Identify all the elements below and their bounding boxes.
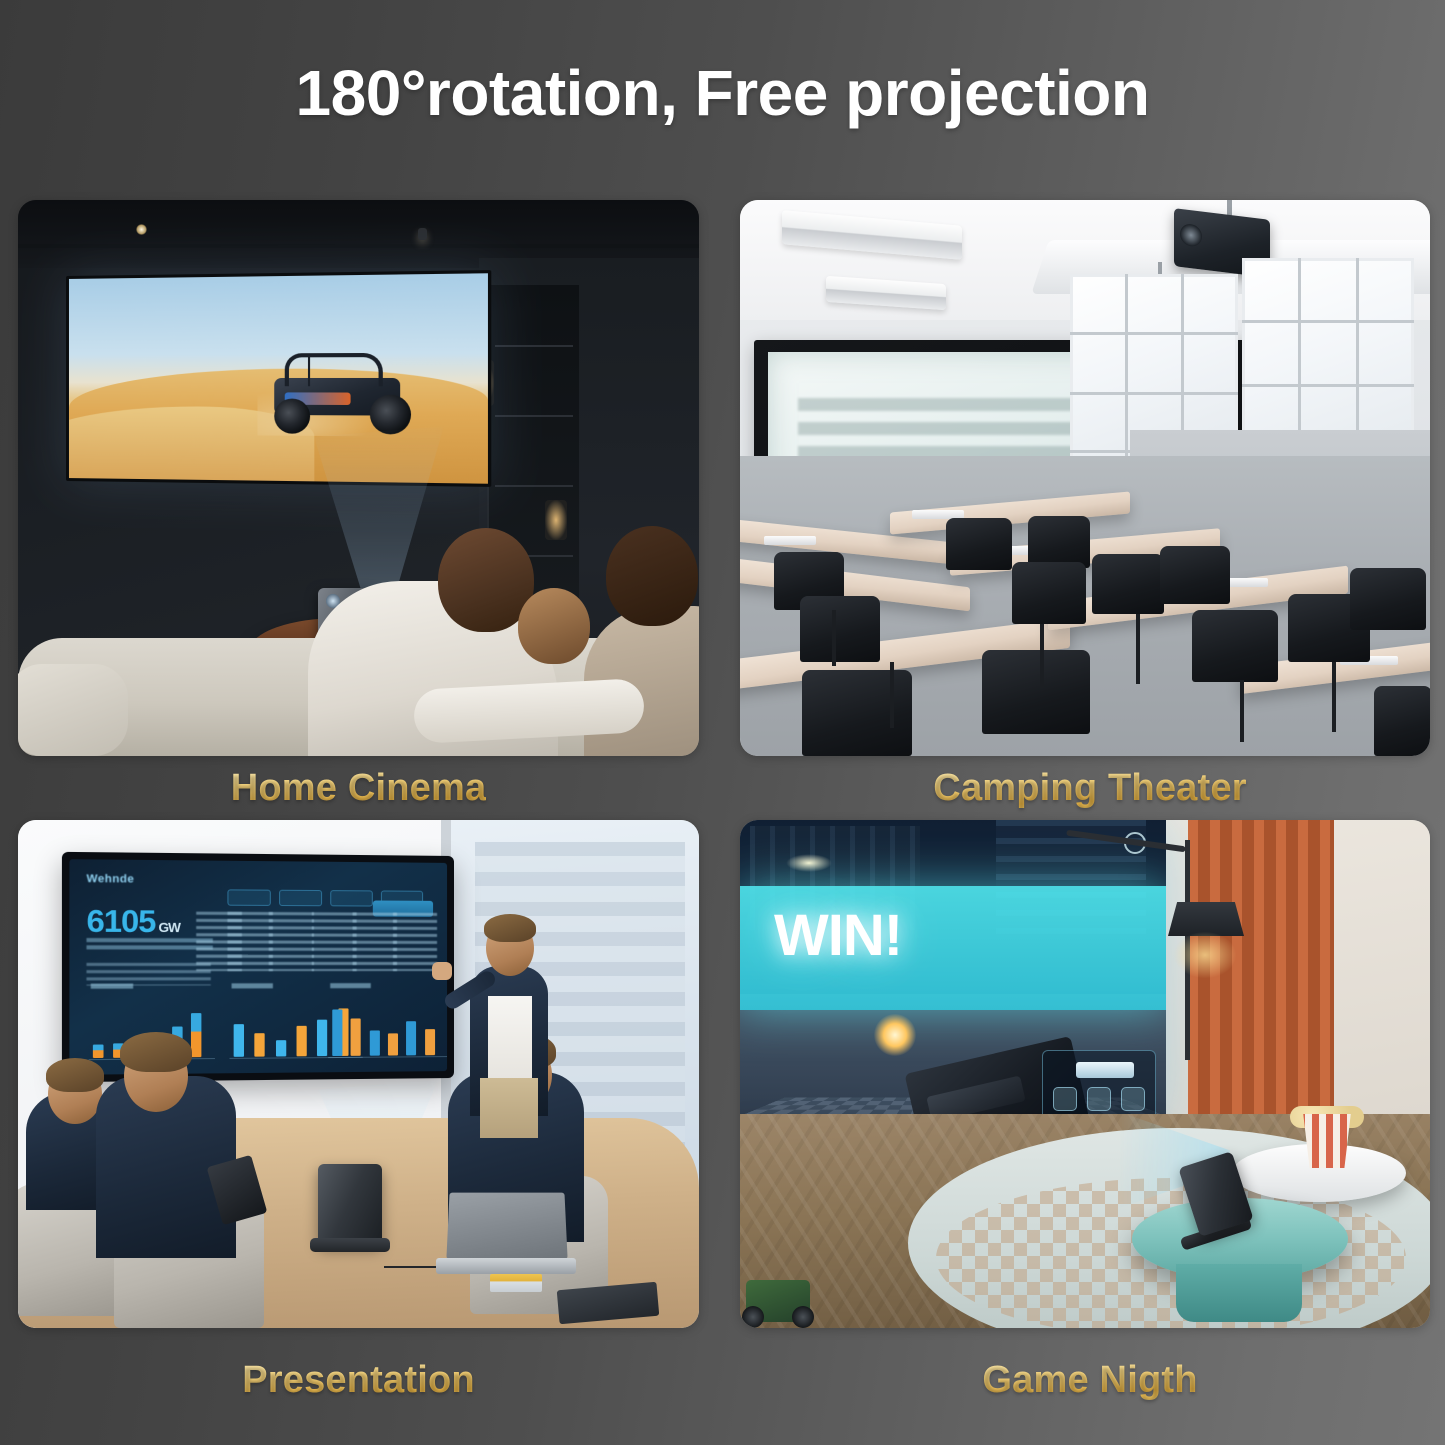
chart-bar [191,1013,201,1057]
caption-label: Camping Theater [923,767,1246,810]
chair [1028,516,1090,568]
chart-bar [276,1040,286,1057]
chart-bar [425,1029,435,1056]
win-text: WIN! [774,902,902,969]
hud-weapon-icon [1076,1062,1134,1078]
caption-home-cinema: Home Cinema [18,756,699,820]
promo-page: 180°rotation, Free projection [0,0,1445,1445]
panel-home-cinema[interactable] [18,200,699,756]
panel-game-night[interactable]: WIN! [740,820,1430,1328]
panel-grid: Home Cinema [18,200,1430,1432]
lamp-shade [1168,902,1244,936]
chair [1374,686,1430,756]
lamp-glow [1174,932,1236,978]
chart-bar [297,1026,307,1056]
dashboard-metric: 6105GW [86,905,179,937]
chair [1092,554,1164,614]
presenter-trousers [480,1078,538,1138]
desk-pad [764,536,816,545]
ceiling-light-icon [136,224,147,235]
ceiling-spot-icon [418,228,427,240]
chair [1350,568,1426,630]
dashboard-tab[interactable] [279,890,322,907]
head-child [518,588,590,664]
caption-label: Home Cinema [231,767,487,810]
toy-car-wheel [742,1306,764,1328]
hud-icon-3 [1121,1087,1145,1111]
dashboard-tab[interactable] [227,889,270,906]
chair [1012,562,1086,624]
caption-label: Presentation [242,1359,475,1402]
head-man [606,526,698,626]
metric-unit: GW [158,920,179,935]
sofa-arm [18,664,128,756]
dashboard-paragraph [86,963,210,986]
toy-car-wheel [792,1306,814,1328]
chair [982,650,1090,734]
projector-device [318,1164,382,1244]
metric-subtitle [86,938,212,952]
projected-game-screen: WIN! [740,820,1166,1134]
shelf-lamp-glow-2 [545,500,567,540]
laptop-base [436,1258,576,1274]
chair [1192,610,1278,682]
chair [800,596,880,662]
page-title: 180°rotation, Free projection [296,56,1150,130]
projector-beam [314,426,444,606]
chart-bar [351,1018,361,1056]
game-streetlight [786,854,832,872]
metric-value: 6105 [86,903,155,939]
ceiling-track [18,244,699,248]
laptop-screen [446,1193,567,1260]
chair [946,518,1012,570]
chart-bar [332,1009,342,1056]
dashboard-tab[interactable] [330,890,373,906]
chair [1160,546,1230,604]
chart-bar [369,1030,379,1056]
table-base [1176,1264,1302,1322]
chart-bar [255,1033,265,1057]
panel-camping-theater[interactable] [740,200,1430,756]
caption-presentation: Presentation [18,1328,699,1432]
chair [802,670,912,756]
title-bar: 180°rotation, Free projection [0,0,1445,185]
hair-1 [46,1058,104,1092]
chart-bar [234,1024,244,1057]
caption-label: Game Nigth [972,1359,1197,1402]
chart-bar [406,1021,416,1055]
hair-2 [120,1032,192,1072]
projector-stand [310,1238,390,1252]
chart-bar [93,1044,104,1058]
presenter-hand [432,962,452,980]
chart-bar [317,1019,327,1056]
caption-game-night: Game Nigth [740,1328,1430,1432]
hud-icon-1 [1053,1087,1077,1111]
dashboard-logo: Wehnde [86,873,134,886]
hud-icon-2 [1087,1087,1111,1111]
chart-right [328,997,447,1064]
notebook [490,1274,542,1292]
muzzle-flash [874,1014,916,1056]
movie-buggy [258,340,418,436]
caption-camping-theater: Camping Theater [740,756,1430,820]
chart-bar [388,1033,398,1055]
hair-presenter [484,914,536,942]
panel-presentation[interactable]: Wehnde 6105GW [18,820,699,1328]
